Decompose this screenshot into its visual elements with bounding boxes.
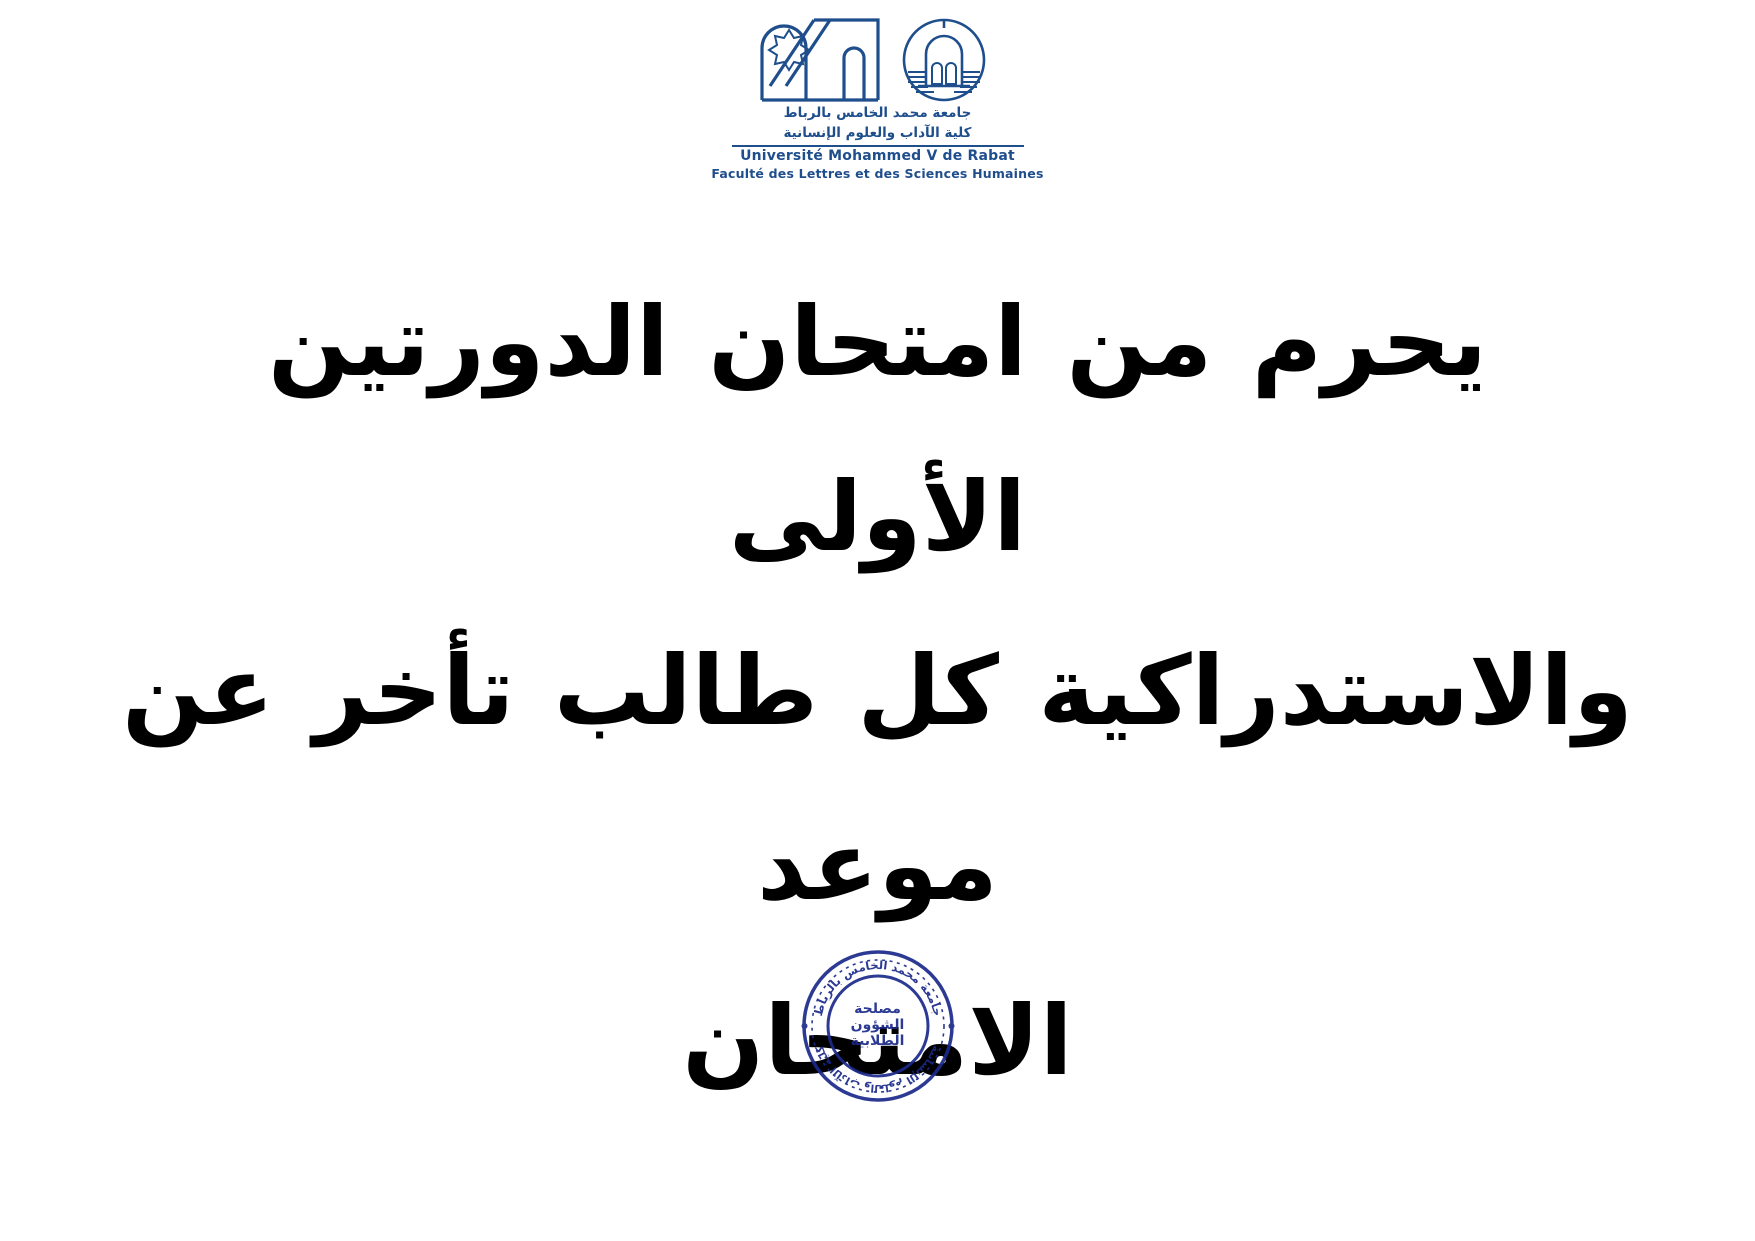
document-page: جامعة محمد الخامس بالرباط كلية الآداب وا… <box>0 0 1755 1241</box>
arch-minaret-star-emblem-icon <box>756 14 884 102</box>
notice-line-1: يحرم من امتحان الدورتين الأولى <box>120 255 1635 604</box>
official-round-stamp-icon: جامعة محمد الخامس بالرباط كلية الآداب وا… <box>790 938 966 1114</box>
letterhead-french-university: Université Mohammed V de Rabat <box>740 148 1015 166</box>
letterhead-text: جامعة محمد الخامس بالرباط كلية الآداب وا… <box>732 104 1024 182</box>
stamp-area: جامعة محمد الخامس بالرباط كلية الآداب وا… <box>0 938 1755 1114</box>
letterhead-arabic-faculty: كلية الآداب والعلوم الإنسانية <box>732 124 1024 144</box>
letterhead: جامعة محمد الخامس بالرباط كلية الآداب وا… <box>0 14 1755 182</box>
letterhead-arabic-university: جامعة محمد الخامس بالرباط <box>732 104 1024 124</box>
notice-line-2: والاستدراكية كل طالب تأخر عن موعد <box>120 604 1635 953</box>
letterhead-divider <box>732 145 1024 147</box>
university-emblem <box>756 14 1000 102</box>
domed-gate-medallion-icon <box>888 14 1000 102</box>
letterhead-french-faculty: Faculté des Lettres et des Sciences Huma… <box>711 166 1043 182</box>
